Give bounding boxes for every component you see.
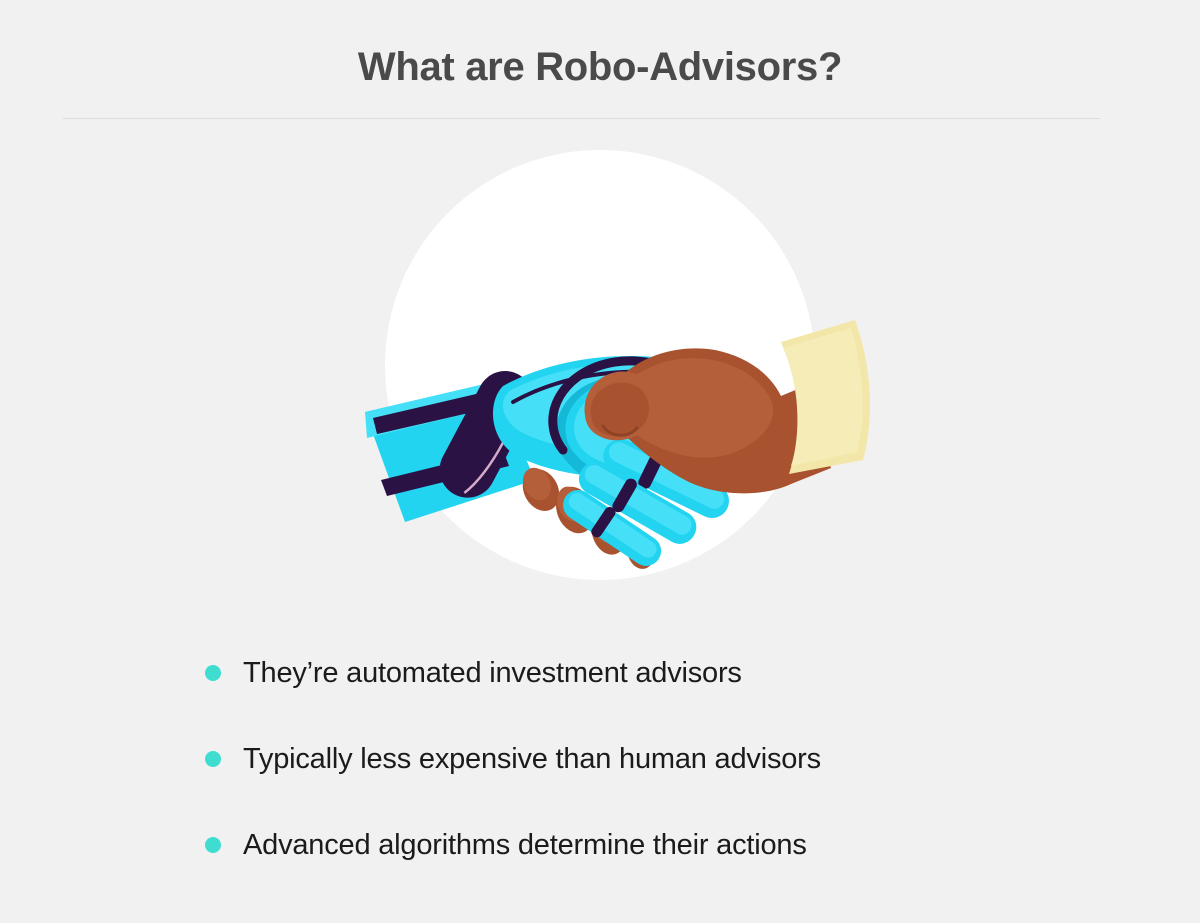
robot-human-handshake-icon (385, 150, 815, 580)
list-item: Advanced algorithms determine their acti… (205, 802, 1105, 888)
infographic-canvas: What are Robo-Advisors? (0, 0, 1200, 923)
bullet-dot-icon (205, 665, 221, 681)
key-points-list: They’re automated investment advisors Ty… (205, 630, 1105, 888)
header-divider (63, 118, 1100, 119)
title-block: What are Robo-Advisors? (0, 44, 1200, 90)
bullet-dot-icon (205, 837, 221, 853)
list-item: Typically less expensive than human advi… (205, 716, 1105, 802)
list-item-label: Advanced algorithms determine their acti… (243, 828, 807, 863)
list-item-label: Typically less expensive than human advi… (243, 742, 821, 777)
list-item: They’re automated investment advisors (205, 630, 1105, 716)
page-title: What are Robo-Advisors? (0, 44, 1200, 90)
list-item-label: They’re automated investment advisors (243, 656, 742, 691)
bullet-dot-icon (205, 751, 221, 767)
illustration-container (385, 150, 815, 580)
